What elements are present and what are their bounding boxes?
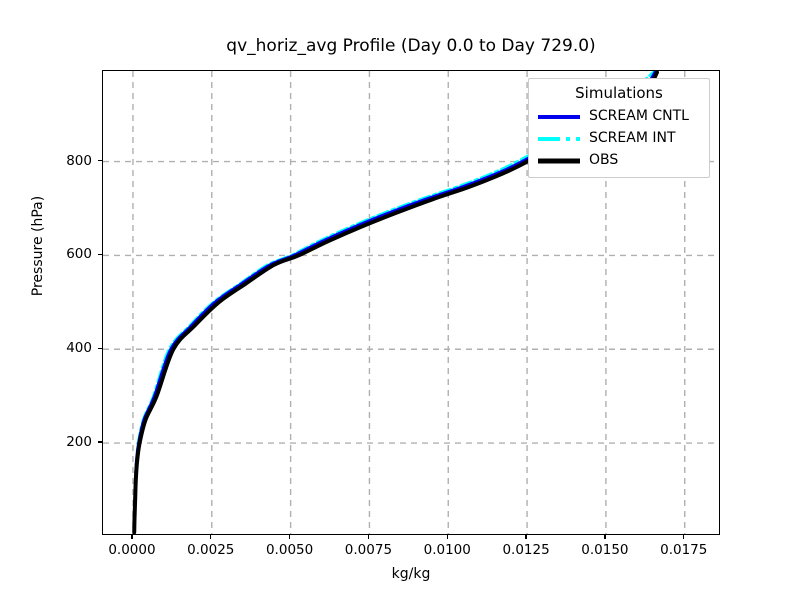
legend: Simulations SCREAM CNTLSCREAM INTOBS xyxy=(528,78,710,178)
page-title: qv_horiz_avg Profile (Day 0.0 to Day 729… xyxy=(102,36,720,56)
legend-item[interactable]: SCREAM INT xyxy=(537,127,701,149)
y-tick-mark xyxy=(98,441,102,442)
legend-label: SCREAM INT xyxy=(589,130,676,146)
y-axis-label: Pressure (hPa) xyxy=(30,146,46,346)
legend-item[interactable]: SCREAM CNTL xyxy=(537,105,701,127)
x-tick-label: 0.0125 xyxy=(502,542,549,558)
legend-swatch xyxy=(537,153,581,167)
y-tick-mark xyxy=(98,348,102,349)
legend-rows: SCREAM CNTLSCREAM INTOBS xyxy=(537,105,701,171)
x-tick-mark xyxy=(525,535,526,539)
legend-item[interactable]: OBS xyxy=(537,149,701,171)
x-tick-label: 0.0175 xyxy=(660,542,707,558)
y-tick-mark xyxy=(98,254,102,255)
y-tick-label: 400 xyxy=(44,340,92,356)
x-tick-label: 0.0075 xyxy=(345,542,392,558)
legend-label: SCREAM CNTL xyxy=(589,108,689,124)
x-tick-mark xyxy=(210,535,211,539)
x-tick-mark xyxy=(289,535,290,539)
y-tick-label: 200 xyxy=(44,434,92,450)
legend-swatch xyxy=(537,131,581,145)
x-tick-mark xyxy=(447,535,448,539)
legend-swatch xyxy=(537,109,581,123)
legend-title: Simulations xyxy=(537,84,701,105)
x-axis-label: kg/kg xyxy=(102,566,720,582)
x-tick-label: 0.0000 xyxy=(108,542,155,558)
y-tick-mark xyxy=(98,160,102,161)
x-tick-label: 0.0150 xyxy=(581,542,628,558)
x-tick-mark xyxy=(368,535,369,539)
x-tick-label: 0.0100 xyxy=(424,542,471,558)
x-tick-label: 0.0025 xyxy=(187,542,234,558)
figure-canvas: qv_horiz_avg Profile (Day 0.0 to Day 729… xyxy=(0,0,800,600)
y-tick-label: 600 xyxy=(44,246,92,262)
x-tick-mark xyxy=(683,535,684,539)
x-tick-label: 0.0050 xyxy=(266,542,313,558)
x-tick-mark xyxy=(131,535,132,539)
x-tick-mark xyxy=(604,535,605,539)
y-tick-label: 800 xyxy=(44,153,92,169)
legend-label: OBS xyxy=(589,152,618,168)
